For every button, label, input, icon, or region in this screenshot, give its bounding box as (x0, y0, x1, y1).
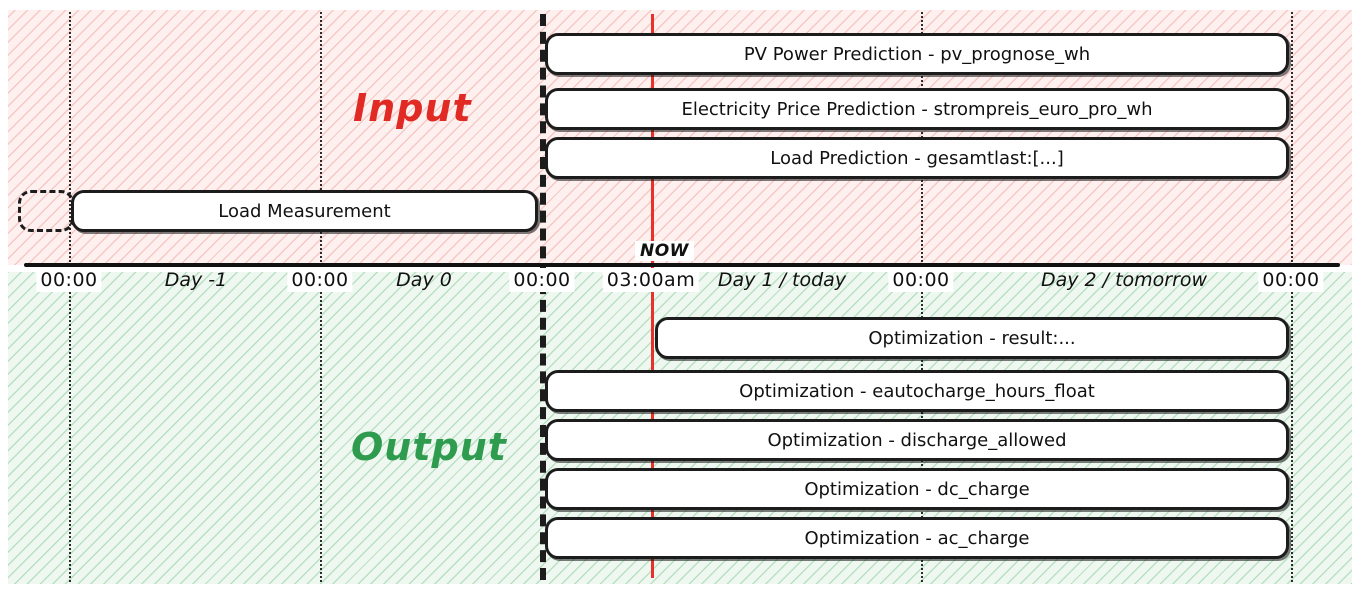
axis-tick-label-0: 00:00 (36, 268, 101, 292)
gridline-3 (1291, 12, 1293, 582)
timeline-diagram: 00:0000:0000:0003:00am00:0000:00Day -1Da… (0, 0, 1359, 592)
output-bar-3[interactable]: Optimization - dc_charge (545, 468, 1289, 510)
gridline-1 (320, 12, 322, 582)
axis-tick-label-2: 00:00 (509, 268, 574, 292)
output-bar-2[interactable]: Optimization - discharge_allowed (545, 419, 1289, 461)
axis-day-label-0: Day -1 (161, 268, 232, 292)
output-bar-4[interactable]: Optimization - ac_charge (545, 517, 1289, 559)
gridline-0 (69, 12, 71, 582)
axis-day-label-2: Day 1 / today (714, 268, 850, 292)
input-bar-3[interactable]: Load Measurement (71, 190, 538, 232)
input-bar-1[interactable]: Electricity Price Prediction - stromprei… (545, 88, 1289, 130)
axis-tick-label-5: 00:00 (1258, 268, 1323, 292)
input-bar-0[interactable]: PV Power Prediction - pv_prognose_wh (545, 33, 1289, 75)
axis-day-label-3: Day 2 / tomorrow (1037, 268, 1211, 292)
input-bar-2[interactable]: Load Prediction - gesamtlast:[...] (545, 137, 1289, 179)
output-bar-1[interactable]: Optimization - eautocharge_hours_float (545, 370, 1289, 412)
time-axis-line (24, 263, 1340, 267)
now-marker-label: NOW (635, 241, 694, 261)
axis-day-label-1: Day 0 (392, 268, 456, 292)
input-section-title: Input (353, 86, 472, 130)
output-bar-0[interactable]: Optimization - result:... (655, 317, 1289, 359)
axis-tick-label-1: 00:00 (287, 268, 352, 292)
output-section-title: Output (351, 425, 507, 469)
axis-tick-label-4: 00:00 (888, 268, 953, 292)
input-bar-placeholder-load-measurement-past[interactable] (18, 190, 74, 232)
axis-tick-label-3: 03:00am (603, 268, 699, 292)
